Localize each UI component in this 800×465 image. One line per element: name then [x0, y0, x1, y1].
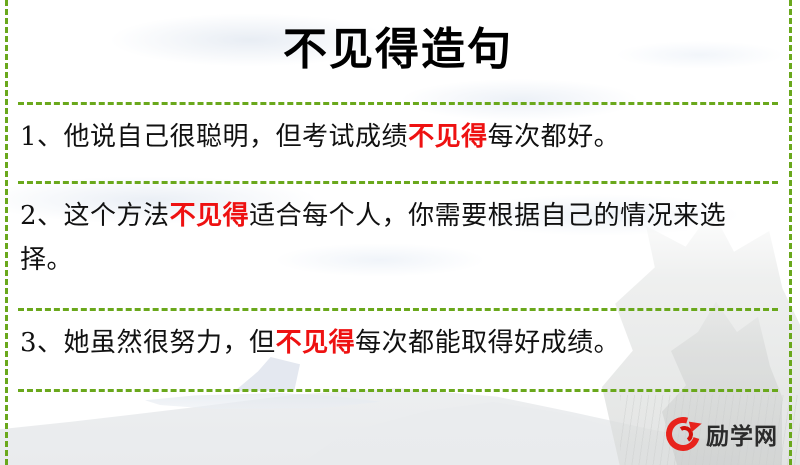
page-title: 不见得造句 — [18, 0, 778, 78]
sentence-before-2: 这个方法 — [64, 201, 170, 231]
sentence-highlight-2: 不见得 — [170, 201, 250, 231]
red-swirl-bird-icon — [666, 417, 700, 451]
sentence-item-3: 3、她虽然很努力，但不见得每次都能取得好成绩。 — [18, 311, 778, 369]
content-area: 不见得造句 1、他说自己很聪明，但考试成绩不见得每次都好。 2、这个方法不见得适… — [0, 0, 800, 465]
poster-page: 不见得造句 1、他说自己很聪明，但考试成绩不见得每次都好。 2、这个方法不见得适… — [0, 0, 800, 465]
site-logo: 励学网 — [666, 417, 778, 451]
sentence-highlight-1: 不见得 — [408, 122, 488, 152]
sentence-index-3: 3、 — [20, 328, 64, 358]
sentence-item-1: 1、他说自己很聪明，但考试成绩不见得每次都好。 — [18, 105, 778, 163]
sentence-before-1: 他说自己很聪明，但考试成绩 — [64, 122, 409, 152]
sentence-after-1: 每次都好。 — [488, 122, 621, 152]
sentence-before-3: 她虽然很努力，但 — [64, 328, 276, 358]
divider-bottom — [18, 389, 778, 392]
sentence-item-2: 2、这个方法不见得适合每个人，你需要根据自己的情况来选择。 — [18, 184, 778, 286]
sentence-after-3: 每次都能取得好成绩。 — [355, 328, 620, 358]
sentence-highlight-3: 不见得 — [276, 328, 356, 358]
site-logo-text: 励学网 — [706, 417, 778, 451]
sentence-index-1: 1、 — [20, 122, 64, 152]
sentence-index-2: 2、 — [20, 201, 64, 231]
